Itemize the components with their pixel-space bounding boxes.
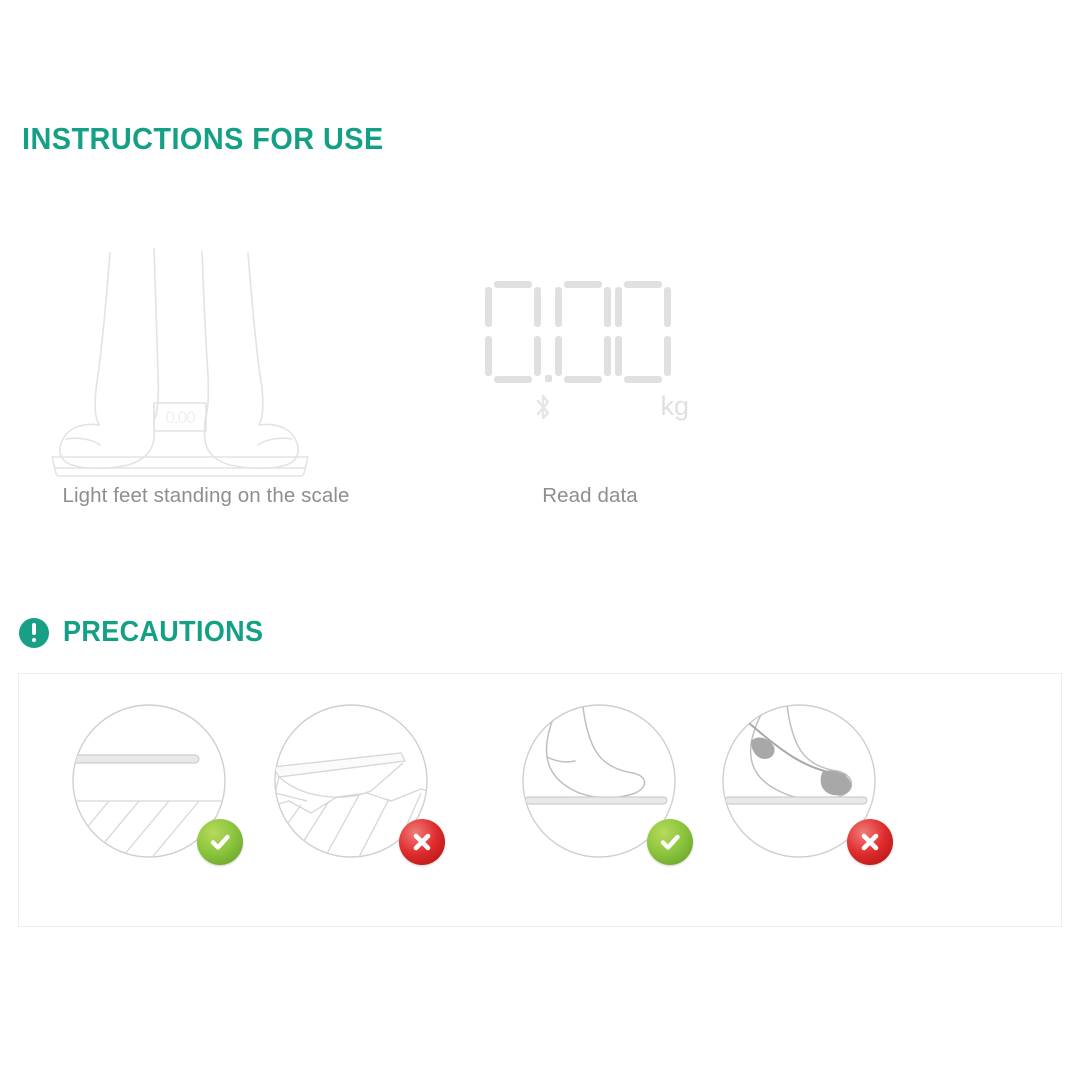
lcd-display-illustration: kg <box>430 225 750 480</box>
precaution-item-hard-floor <box>69 701 229 861</box>
feet-on-scale-illustration: 0.00 <box>36 225 376 480</box>
lcd-panel: kg <box>485 281 695 421</box>
lcd-decimal-point <box>545 375 552 382</box>
precaution-item-soft-floor <box>271 701 431 861</box>
lcd-digit-1 <box>555 281 611 383</box>
precaution-items <box>19 696 1061 876</box>
cross-icon <box>399 819 445 865</box>
lcd-unit-label: kg <box>660 393 689 420</box>
check-icon <box>197 819 243 865</box>
instruction-step-2-caption: Read data <box>430 484 750 508</box>
instruction-steps: 0.00 Light feet standing on the scale <box>0 225 1080 545</box>
precautions-title: PRECAUTIONS <box>63 616 263 649</box>
check-icon <box>647 819 693 865</box>
bluetooth-icon <box>533 393 553 428</box>
exclamation-circle-icon <box>19 618 49 648</box>
precaution-item-socked-foot <box>719 701 879 861</box>
scale-display-value: 0.00 <box>165 408 195 427</box>
lcd-value <box>485 281 675 383</box>
precaution-item-bare-foot <box>519 701 679 861</box>
instruction-step-1: 0.00 Light feet standing on the scale <box>36 225 376 508</box>
instruction-step-2: kg Read data <box>430 225 750 508</box>
instruction-step-1-caption: Light feet standing on the scale <box>36 484 376 508</box>
precautions-header: PRECAUTIONS <box>19 616 278 649</box>
cross-icon <box>847 819 893 865</box>
lcd-digit-0 <box>485 281 541 383</box>
precautions-panel <box>18 673 1062 927</box>
lcd-digit-2 <box>615 281 671 383</box>
page-title: INSTRUCTIONS FOR USE <box>22 121 384 157</box>
